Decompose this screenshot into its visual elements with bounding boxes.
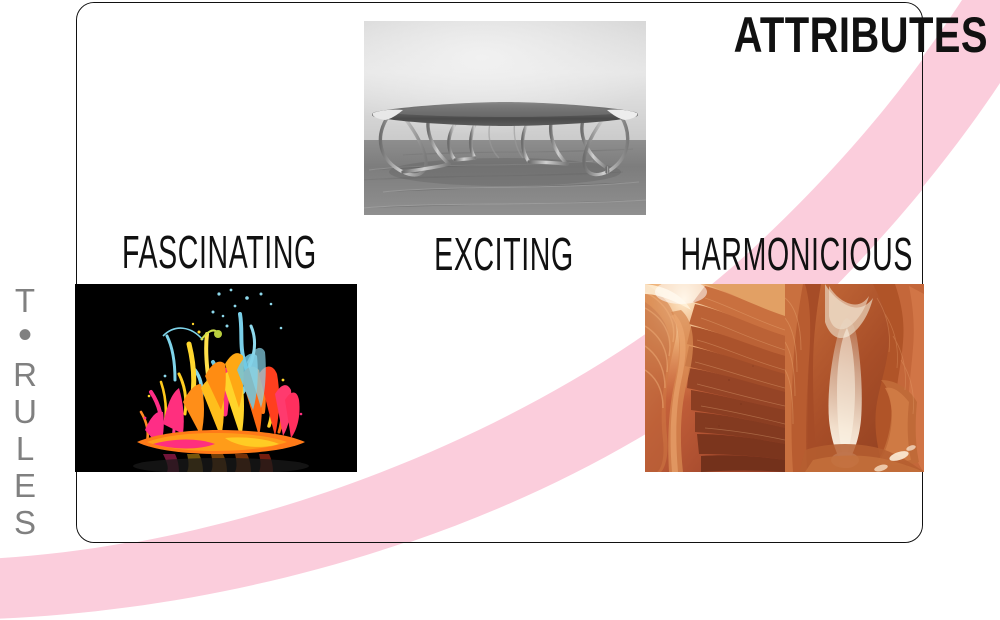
attribute-label-fascinating: FASCINATING <box>122 226 317 278</box>
sidebar-char-l: L <box>16 430 34 467</box>
sidebar-char-dot: • <box>18 319 32 356</box>
slot-canyon-lightbeam-photo[interactable] <box>785 284 924 472</box>
paint-splash-photo[interactable] <box>75 284 357 472</box>
sidebar-char-e: E <box>14 467 36 504</box>
sculptural-table-photo[interactable] <box>363 20 647 216</box>
sidebar-char-s: S <box>14 504 36 541</box>
sidebar-char-u: U <box>13 393 37 430</box>
slot-canyon-photo[interactable] <box>645 284 785 472</box>
attribute-label-harmonicious: HARMONICIOUS <box>681 228 913 280</box>
attribute-label-exciting: EXCITING <box>434 228 574 280</box>
sidebar-char-r: R <box>13 356 37 393</box>
chevron-left-icon[interactable] <box>36 487 70 525</box>
page-title: ATTRIBUTES <box>734 6 988 64</box>
